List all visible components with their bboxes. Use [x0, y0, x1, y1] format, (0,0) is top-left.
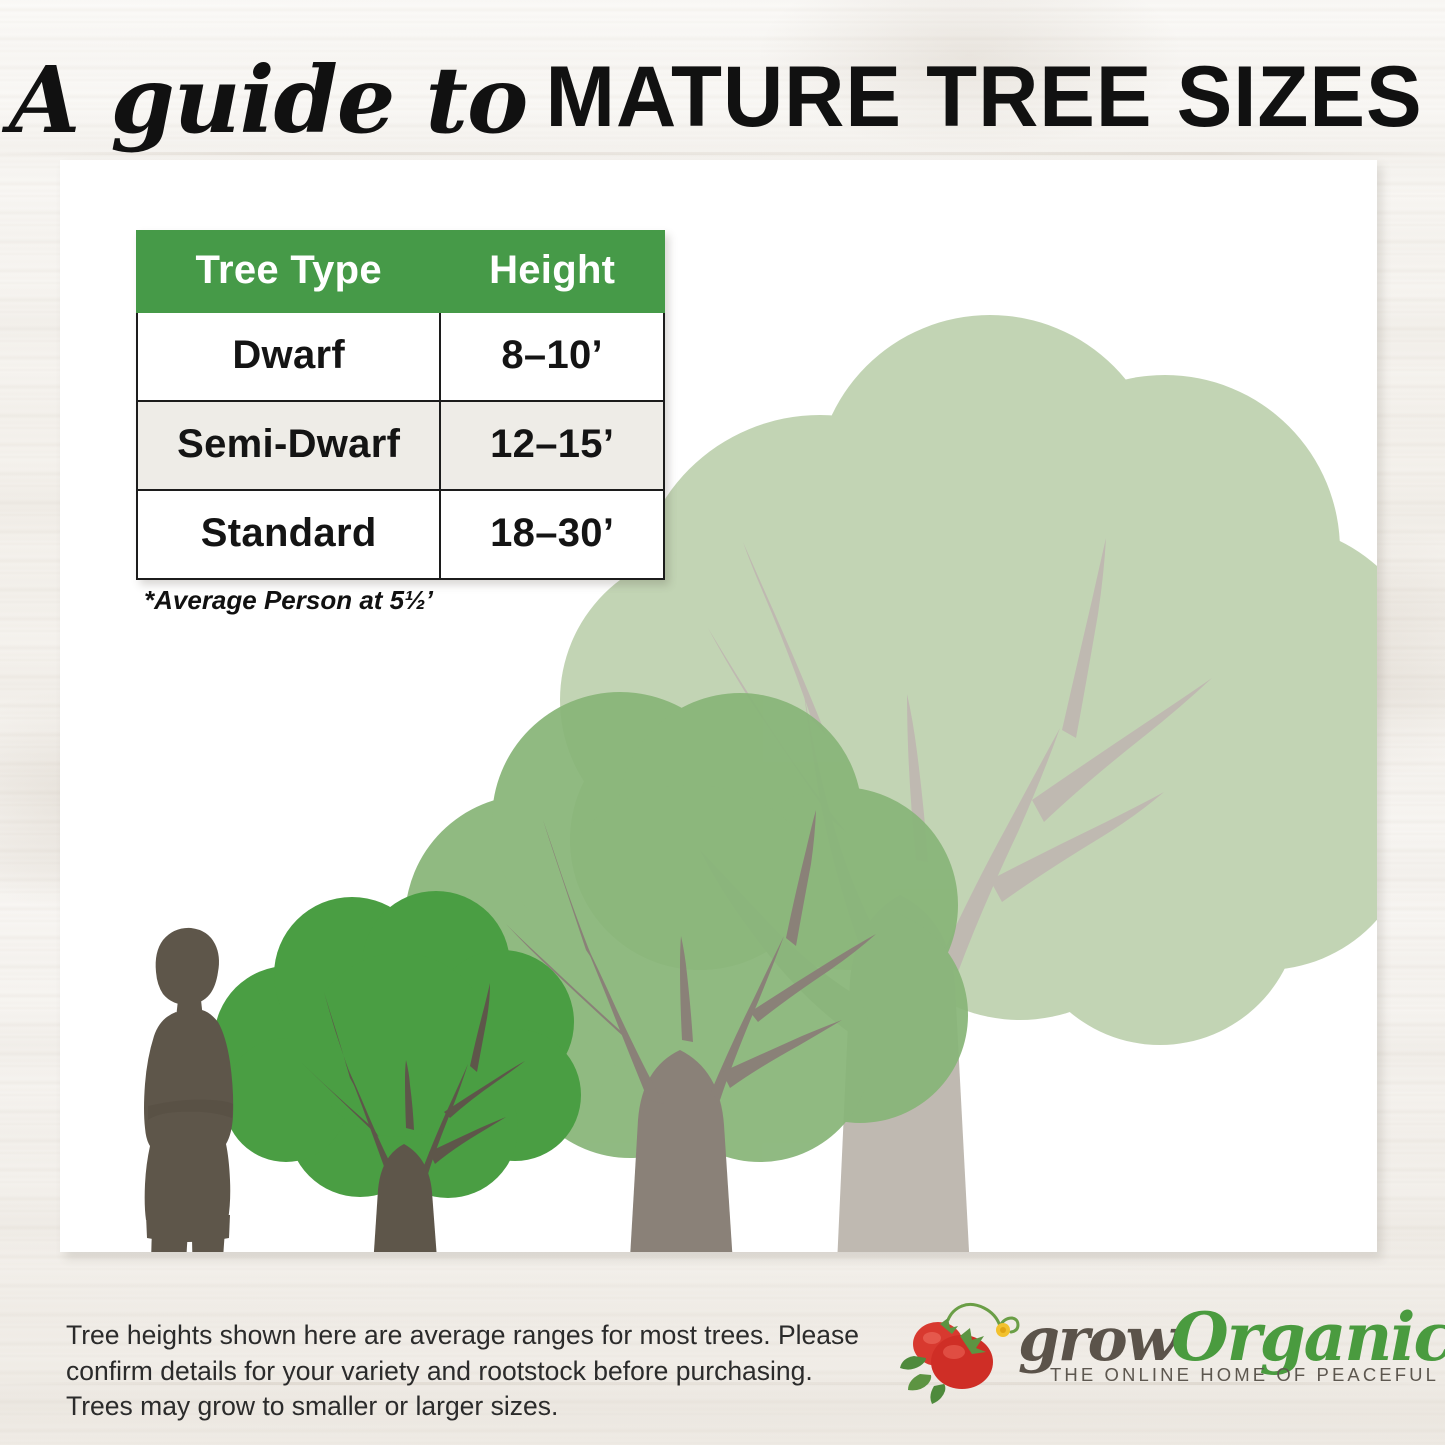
table-row: Standard 18–30’ [137, 490, 664, 579]
cell-height: 18–30’ [440, 490, 664, 579]
cell-tree-type: Standard [137, 490, 440, 579]
logo-tagline: THE ONLINE HOME OF PEACEFUL VALLEY [1050, 1364, 1445, 1386]
table-footnote: *Average Person at 5½’ [144, 585, 433, 616]
column-header-height: Height [440, 231, 664, 312]
infographic-page: A guide to MATURE TREE SIZES [0, 0, 1445, 1445]
average-person-silhouette [144, 928, 238, 1252]
page-title: A guide to MATURE TREE SIZES [0, 46, 1445, 154]
table-row: Semi-Dwarf 12–15’ [137, 401, 664, 490]
title-caps-text: MATURE TREE SIZES [545, 48, 1422, 147]
table-body: Dwarf 8–10’ Semi-Dwarf 12–15’ Standard 1… [137, 312, 664, 579]
content-panel: Tree Type Height Dwarf 8–10’ Semi-Dwarf … [60, 160, 1377, 1252]
table-row: Dwarf 8–10’ [137, 312, 664, 401]
cell-height: 12–15’ [440, 401, 664, 490]
cell-tree-type: Semi-Dwarf [137, 401, 440, 490]
cell-tree-type: Dwarf [137, 312, 440, 401]
table-header-row: Tree Type Height [137, 231, 664, 312]
footer: Tree heights shown here are average rang… [0, 1258, 1445, 1445]
cell-height: 8–10’ [440, 312, 664, 401]
column-header-tree-type: Tree Type [137, 231, 440, 312]
tree-size-table: Tree Type Height Dwarf 8–10’ Semi-Dwarf … [136, 230, 665, 580]
grow-organic-logo[interactable]: growOrganic.COM THE ONLINE HOME OF PEACE… [900, 1292, 1400, 1412]
footer-disclaimer: Tree heights shown here are average rang… [66, 1318, 876, 1425]
title-script-text: A guide to [9, 46, 527, 154]
table-header: Tree Type Height [137, 231, 664, 312]
tomato-illustration-icon [900, 1300, 1030, 1404]
